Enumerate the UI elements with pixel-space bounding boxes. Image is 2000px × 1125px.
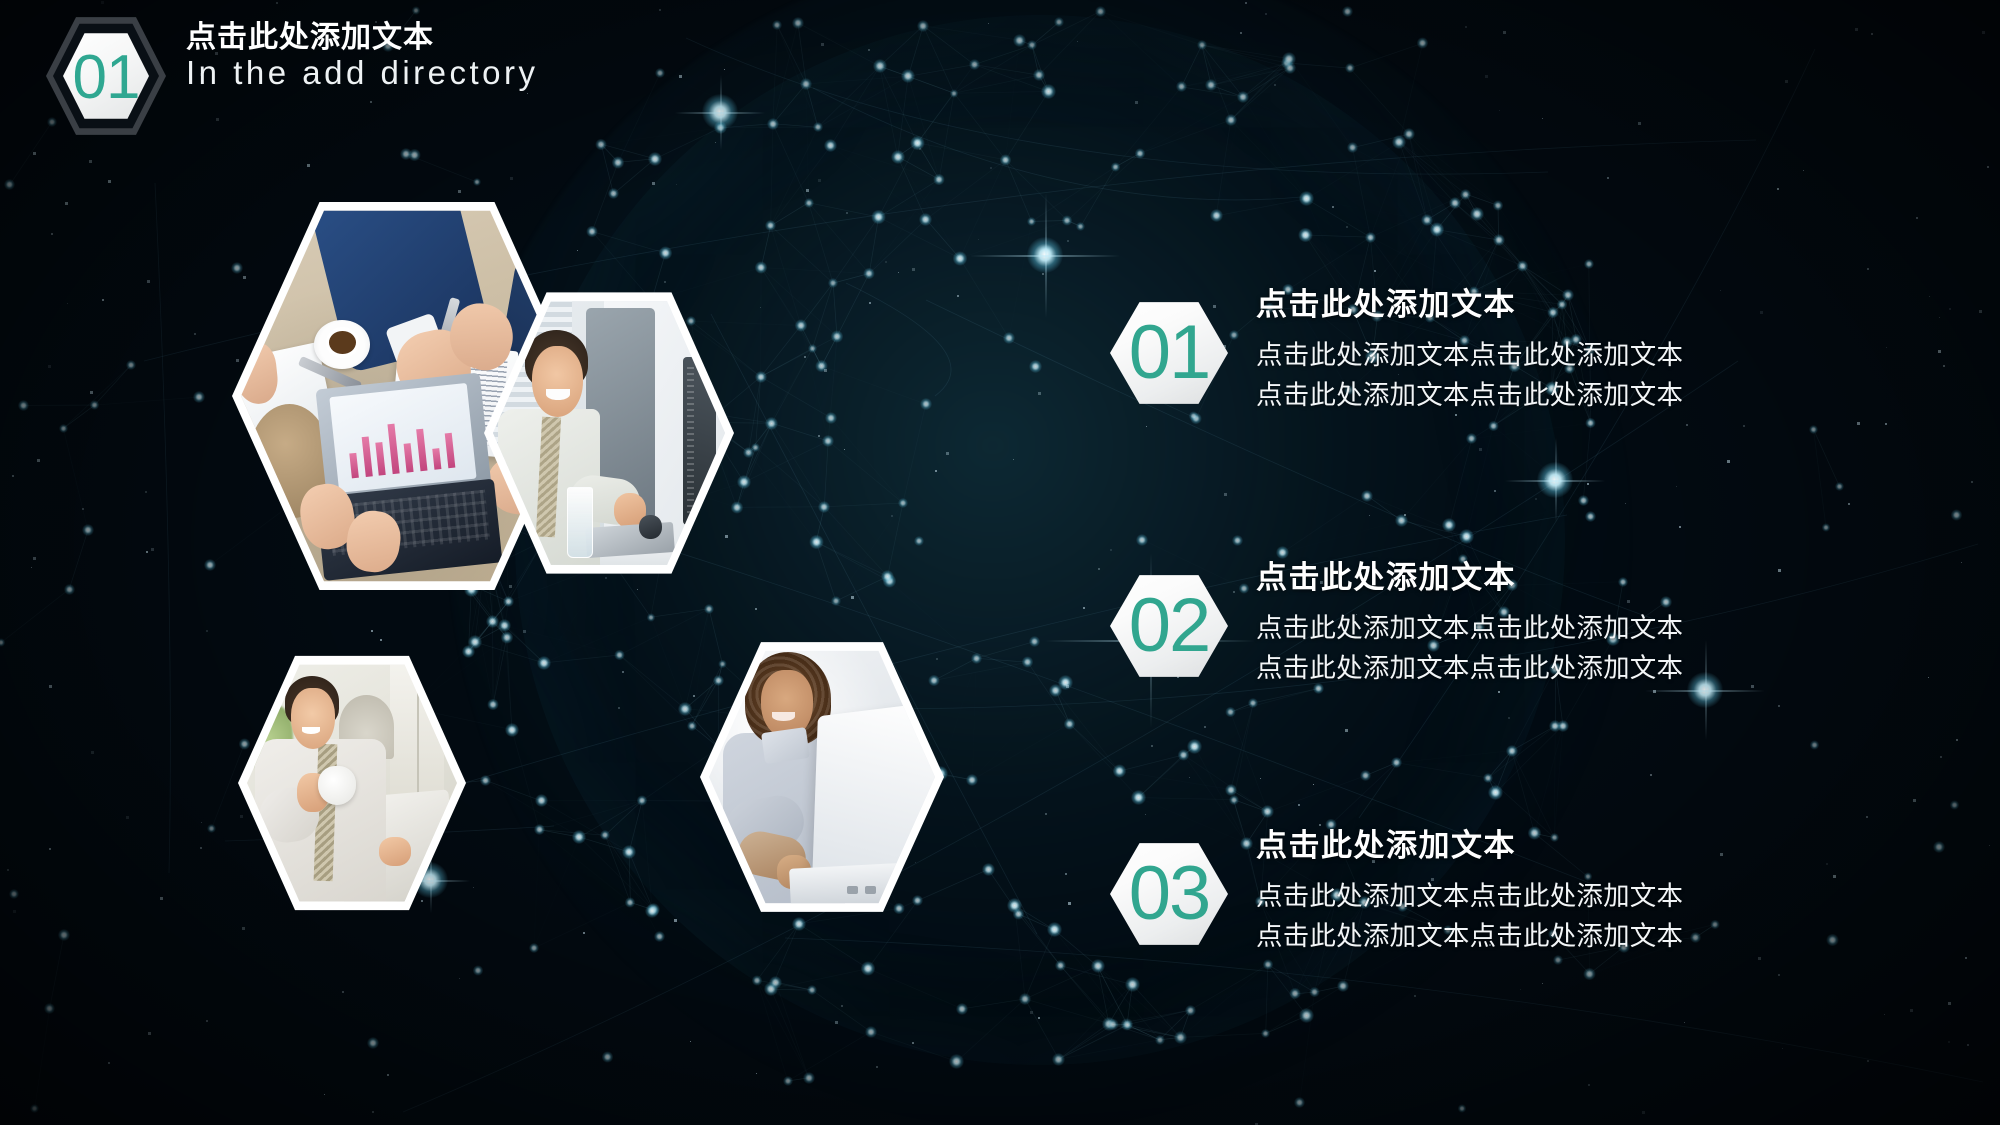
content-block-01-number: 01	[1092, 315, 1246, 391]
content-block-02-body-line1: 点击此处添加文本点击此处添加文本	[1256, 608, 1683, 648]
content-block-03[interactable]: 03 点击此处添加文本 点击此处添加文本点击此处添加文本 点击此处添加文本点击此…	[1110, 827, 1683, 957]
header-hexagon-badge: 01	[46, 14, 166, 138]
header-title-cn: 点击此处添加文本	[186, 20, 539, 55]
header-badge-number: 01	[46, 14, 166, 138]
content-block-03-body-line2: 点击此处添加文本点击此处添加文本	[1256, 916, 1683, 956]
content-block-01-body-line2: 点击此处添加文本点击此处添加文本	[1256, 375, 1683, 415]
content-block-02-body-line2: 点击此处添加文本点击此处添加文本	[1256, 648, 1683, 688]
content-block-02-number: 02	[1092, 588, 1246, 664]
content-block-03-number: 03	[1092, 856, 1246, 932]
content-block-03-body-line1: 点击此处添加文本点击此处添加文本	[1256, 876, 1683, 916]
content-block-list: 01 点击此处添加文本 点击此处添加文本点击此处添加文本 点击此处添加文本点击此…	[1100, 0, 2000, 1125]
content-block-01-badge: 01	[1110, 300, 1228, 406]
content-block-02[interactable]: 02 点击此处添加文本 点击此处添加文本点击此处添加文本 点击此处添加文本点击此…	[1110, 559, 1683, 689]
content-block-02-text: 点击此处添加文本 点击此处添加文本点击此处添加文本 点击此处添加文本点击此处添加…	[1256, 559, 1683, 689]
content-block-03-badge: 03	[1110, 841, 1228, 947]
slide-header: 01 点击此处添加文本 In the add directory	[46, 14, 539, 138]
content-block-02-body: 点击此处添加文本点击此处添加文本 点击此处添加文本点击此处添加文本	[1256, 608, 1683, 689]
header-text-group: 点击此处添加文本 In the add directory	[186, 14, 539, 94]
content-block-03-title: 点击此处添加文本	[1256, 827, 1683, 864]
content-block-02-badge: 02	[1110, 573, 1228, 679]
content-block-01-title: 点击此处添加文本	[1256, 286, 1683, 323]
content-block-01-body-line1: 点击此处添加文本点击此处添加文本	[1256, 335, 1683, 375]
header-title-en: In the add directory	[186, 53, 539, 93]
content-block-01-text: 点击此处添加文本 点击此处添加文本点击此处添加文本 点击此处添加文本点击此处添加…	[1256, 286, 1683, 416]
content-block-03-text: 点击此处添加文本 点击此处添加文本点击此处添加文本 点击此处添加文本点击此处添加…	[1256, 827, 1683, 957]
content-block-01-body: 点击此处添加文本点击此处添加文本 点击此处添加文本点击此处添加文本	[1256, 335, 1683, 416]
slide-canvas: 01 点击此处添加文本 In the add directory	[0, 0, 2000, 1125]
gallery-hexagon-4[interactable]	[700, 638, 944, 916]
content-block-03-body: 点击此处添加文本点击此处添加文本 点击此处添加文本点击此处添加文本	[1256, 876, 1683, 957]
content-block-02-title: 点击此处添加文本	[1256, 559, 1683, 596]
gallery-hexagon-2[interactable]	[484, 288, 734, 578]
gallery-hexagon-3[interactable]	[238, 652, 466, 914]
content-block-01[interactable]: 01 点击此处添加文本 点击此处添加文本点击此处添加文本 点击此处添加文本点击此…	[1110, 286, 1683, 416]
